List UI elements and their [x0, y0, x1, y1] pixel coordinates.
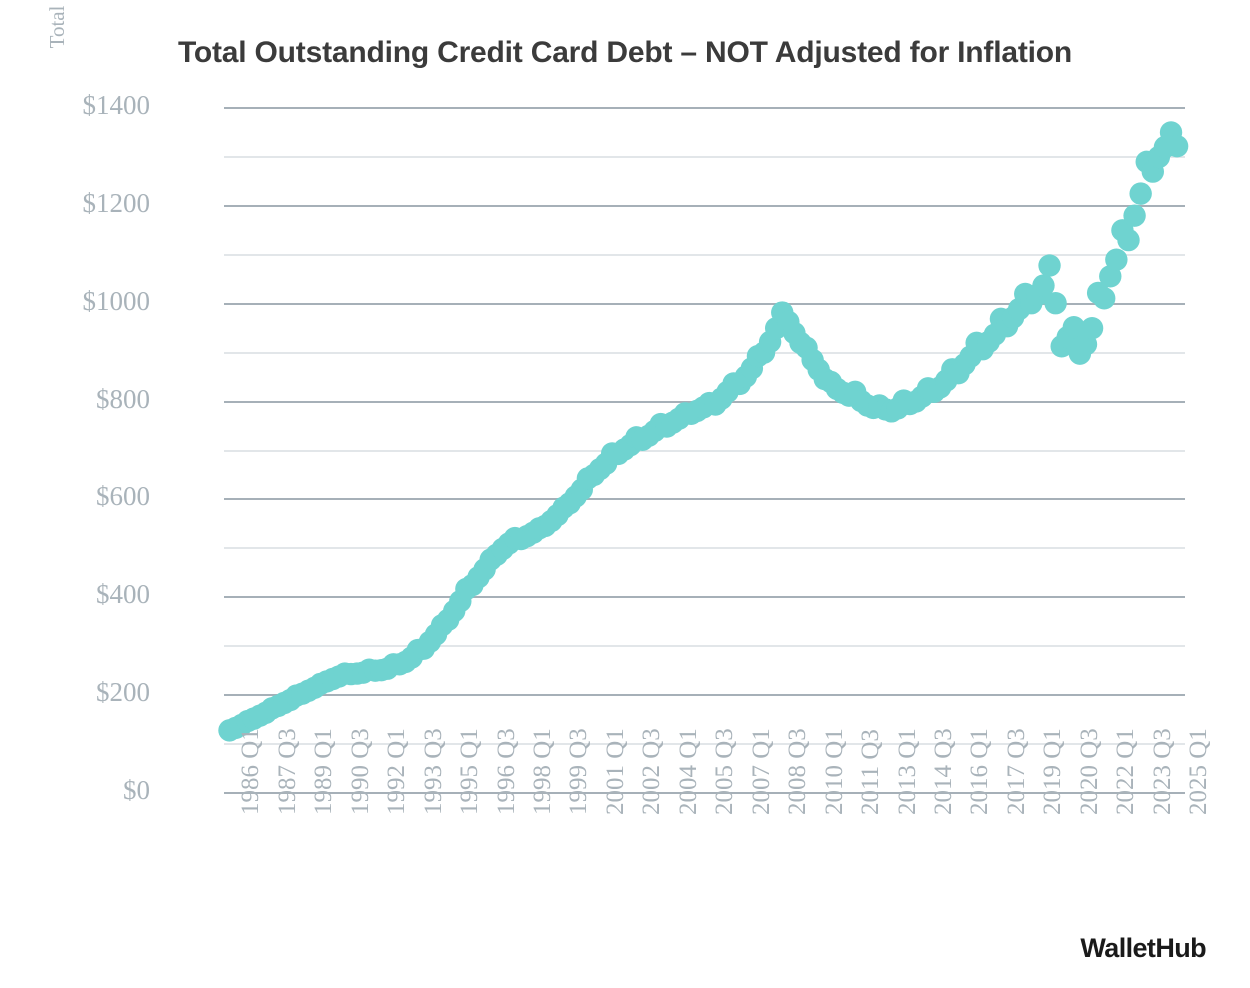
- y-axis-tick-label: $0: [0, 777, 150, 804]
- x-axis-tick-label: 2007 Q1: [749, 728, 774, 815]
- chart-container: Total Outstanding Credit Card Debt – NOT…: [0, 0, 1250, 988]
- x-axis-tick-label: 1989 Q1: [311, 728, 336, 815]
- x-axis-tick-label: 1992 Q1: [384, 728, 409, 815]
- data-point: [1044, 292, 1066, 314]
- x-axis-tick-label: 2019 Q1: [1040, 728, 1065, 815]
- y-axis-title-line2: for Inflation (in billions): [76, 0, 114, 178]
- x-axis-tick-label: 2023 Q3: [1150, 728, 1175, 815]
- x-axis-tick-label: 2017 Q3: [1004, 728, 1029, 815]
- x-axis-tick-label: 2001 Q1: [603, 728, 628, 815]
- x-axis-tick-label: 2016 Q1: [967, 728, 992, 815]
- x-axis-tick-label: 1995 Q1: [457, 728, 482, 815]
- x-axis-tick-label: 1987 Q3: [275, 728, 300, 815]
- data-point: [1117, 229, 1139, 251]
- data-series-markers: [224, 108, 1185, 793]
- data-point: [1093, 287, 1115, 309]
- x-axis-tick-label: 2002 Q3: [639, 728, 664, 815]
- y-axis-tick-label: $1000: [0, 288, 150, 315]
- y-axis-tick-label: $600: [0, 483, 150, 510]
- x-axis-tick-label: 1990 Q3: [348, 728, 373, 815]
- x-axis-tick-label: 1993 Q3: [421, 728, 446, 815]
- x-axis-tick-label: 2008 Q3: [785, 728, 810, 815]
- x-axis-tick-label: 2011 Q3: [858, 729, 883, 815]
- x-axis-tick-label: 1999 Q3: [566, 728, 591, 815]
- y-axis-tick-label: $1200: [0, 190, 150, 217]
- x-axis-tick-label: 2005 Q3: [712, 728, 737, 815]
- data-point: [1166, 135, 1188, 157]
- y-axis-tick-label: $200: [0, 679, 150, 706]
- x-axis-tick-label: 1996 Q3: [494, 728, 519, 815]
- data-point: [1038, 254, 1060, 276]
- x-axis-tick-label: 2013 Q1: [895, 728, 920, 815]
- plot-area: $0$200$400$600$800$1000$1200$1400 1986 Q…: [224, 108, 1185, 793]
- data-point: [1123, 204, 1145, 226]
- y-axis-title: Total Outstanding Credit Card Debt - NOT…: [38, 0, 116, 178]
- x-axis-tick-label: 2025 Q1: [1186, 728, 1211, 815]
- x-axis-tick-label: 2022 Q1: [1113, 728, 1138, 815]
- y-axis-tick-label: $400: [0, 581, 150, 608]
- x-axis-tick-label: 2010 Q1: [822, 728, 847, 815]
- x-axis-tick-label: 1986 Q1: [238, 728, 263, 815]
- y-axis-tick-label: $1400: [0, 92, 150, 119]
- chart-title: Total Outstanding Credit Card Debt – NOT…: [0, 36, 1250, 70]
- data-point: [1081, 317, 1103, 339]
- x-axis-tick-label: 2020 Q3: [1077, 728, 1102, 815]
- wallethub-logo: WalletHub: [1080, 933, 1206, 964]
- y-axis-title-line1: Total Outstanding Credit Card Debt - NOT…: [38, 0, 76, 178]
- x-axis-tick-label: 1998 Q1: [530, 728, 555, 815]
- y-axis-tick-label: $800: [0, 386, 150, 413]
- data-point: [1129, 182, 1151, 204]
- x-axis-tick-label: 2014 Q3: [931, 728, 956, 815]
- x-axis-tick-label: 2004 Q1: [676, 728, 701, 815]
- data-point: [1105, 248, 1127, 270]
